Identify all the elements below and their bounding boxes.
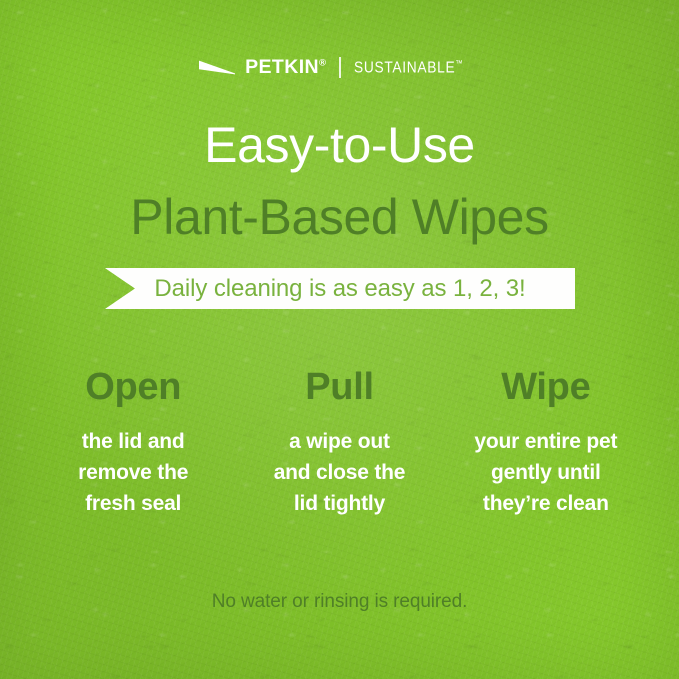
step-body-line: remove the bbox=[34, 458, 232, 489]
footer-note: No water or rinsing is required. bbox=[0, 592, 679, 611]
step-body: a wipe out and close the lid tightly bbox=[240, 427, 438, 520]
product-info-poster: PETKIN® SUSTAINABLE™ Easy-to-Use Plant-B… bbox=[0, 0, 679, 679]
step-title: Pull bbox=[240, 368, 438, 406]
step-body-line: gently until bbox=[447, 458, 645, 489]
step-body-line: fresh seal bbox=[34, 489, 232, 520]
poster-content: PETKIN® SUSTAINABLE™ Easy-to-Use Plant-B… bbox=[0, 0, 679, 679]
brand-name: PETKIN® bbox=[245, 58, 326, 78]
step-body: the lid and remove the fresh seal bbox=[34, 427, 232, 520]
step-title: Wipe bbox=[447, 368, 645, 406]
headline-primary: Easy-to-Use bbox=[0, 120, 679, 170]
ribbon-banner: Daily cleaning is as easy as 1, 2, 3! bbox=[105, 268, 575, 309]
brand-lockup: PETKIN® SUSTAINABLE™ bbox=[0, 57, 679, 78]
registered-mark: ® bbox=[319, 57, 326, 68]
petkin-wedge-icon bbox=[199, 60, 235, 75]
brand-sub-label: SUSTAINABLE™ bbox=[354, 59, 463, 76]
step-wipe: Wipe your entire pet gently until they’r… bbox=[443, 368, 649, 520]
step-body-line: a wipe out bbox=[240, 427, 438, 458]
trademark-mark: ™ bbox=[455, 58, 462, 68]
step-open: Open the lid and remove the fresh seal bbox=[30, 368, 236, 520]
ribbon-text: Daily cleaning is as easy as 1, 2, 3! bbox=[154, 277, 525, 301]
headline-secondary: Plant-Based Wipes bbox=[0, 192, 679, 242]
step-body: your entire pet gently until they’re cle… bbox=[447, 427, 645, 520]
step-body-line: lid tightly bbox=[240, 489, 438, 520]
brand-divider bbox=[339, 57, 341, 78]
steps-row: Open the lid and remove the fresh seal P… bbox=[30, 368, 649, 520]
step-body-line: your entire pet bbox=[447, 427, 645, 458]
step-body-line: and close the bbox=[240, 458, 438, 489]
step-body-line: the lid and bbox=[34, 427, 232, 458]
step-title: Open bbox=[34, 368, 232, 406]
step-body-line: they’re clean bbox=[447, 489, 645, 520]
step-pull: Pull a wipe out and close the lid tightl… bbox=[236, 368, 442, 520]
